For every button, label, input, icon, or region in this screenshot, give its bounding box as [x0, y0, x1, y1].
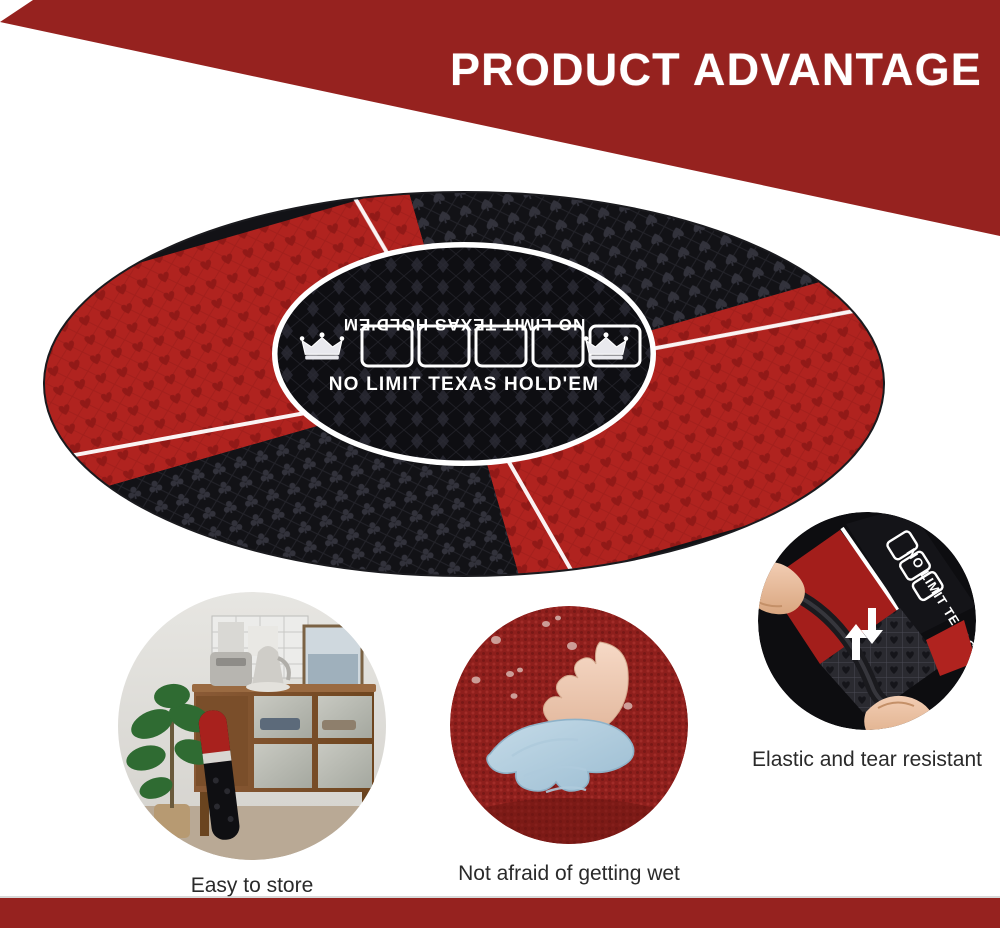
page-title: PRODUCT ADVANTAGE [450, 44, 982, 96]
feature-elastic-and-tear-resistant: NO LIMIT TEXAS HOL [742, 512, 992, 772]
footer-bar [0, 898, 1000, 928]
feature-photo-elastic: NO LIMIT TEXAS HOL [758, 512, 976, 730]
feature-caption-water-resistant: Not afraid of getting wet [424, 862, 714, 886]
feature-caption-easy-to-store: Easy to store [102, 874, 402, 898]
feature-photo-water-resistant [450, 606, 688, 844]
center-legend-bottom: NO LIMIT TEXAS HOLD'EM [329, 374, 600, 395]
feature-caption-elastic: Elastic and tear resistant [742, 748, 992, 772]
feature-easy-to-store: Easy to store [102, 592, 402, 898]
feature-photo-easy-to-store [116, 592, 388, 860]
feature-not-afraid-of-getting-wet: Not afraid of getting wet [424, 606, 714, 886]
